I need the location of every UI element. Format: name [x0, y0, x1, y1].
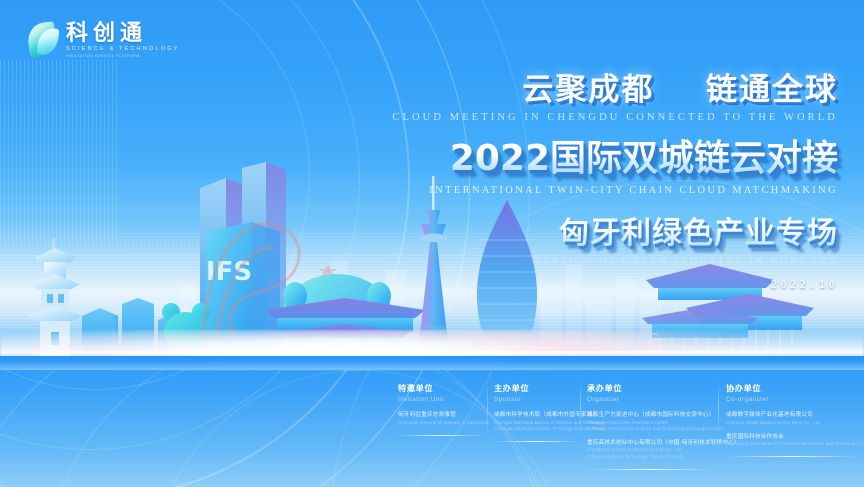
event-title-en: INTERNATIONAL TWIN-CITY CHAIN CLOUD MATC…	[318, 185, 838, 196]
credit-title-en: Co-organizer	[726, 396, 860, 404]
credit-block-organizer: 承办单位 Organizer 成都生产力促进中心（成都市国际科技交流中心） Ch…	[587, 384, 713, 470]
credits-bar: 特邀单位 Invitation Unit 匈牙利驻重庆总领事馆 Consulat…	[0, 370, 864, 487]
leaf-droplet-logo-icon	[26, 22, 60, 58]
credit-item-cn: 成都市科学技术局（成都市外国专家局）	[494, 411, 578, 419]
credit-title-cn: 协办单位	[726, 384, 860, 394]
credit-item: 成都生产力促进中心（成都市国际科技交流中心） Chengdu Productiv…	[587, 411, 713, 432]
logo-name-en: SCIENCE & TECHNOLOGY	[66, 47, 180, 53]
horizon-blue-bar	[0, 356, 864, 370]
horizon-glow-line	[0, 351, 864, 354]
brand-logo[interactable]: 科创通 SCIENCE & TECHNOLOGY INNOVATION SERV…	[26, 22, 180, 58]
credit-item: 重庆国际科技合作协会 Chongqing Association for Int…	[726, 433, 860, 448]
slogan-cn: 云聚成都 链通全球	[318, 64, 838, 109]
credit-item-en: Chengdu Digital Media Industry Base Co.,…	[726, 420, 860, 426]
event-poster: IFS	[0, 0, 864, 487]
credit-item: 重庆高技术创业中心有限公司（中国-匈牙利技术转移中心） Chongqing Hi…	[587, 439, 713, 460]
credit-block-sponsor: 主办单位 Sponsor 成都市科学技术局（成都市外国专家局） Chengdu …	[494, 384, 578, 442]
credit-item: 匈牙利驻重庆总领事馆 Consulate General of Hungary …	[398, 411, 484, 426]
credit-title-cn: 主办单位	[494, 384, 578, 394]
credit-item-en: Consulate General of Hungary in Chongqin…	[398, 420, 484, 426]
slogan-cn-part1: 云聚成都	[522, 72, 654, 108]
credit-item-cn: 匈牙利驻重庆总领事馆	[398, 411, 484, 419]
credit-divider	[487, 378, 488, 436]
event-date: 2022.10	[318, 278, 838, 291]
credit-rule	[398, 435, 484, 436]
credit-rule	[494, 441, 578, 442]
credit-title-en: Organizer	[587, 396, 713, 404]
credit-item-cn: 重庆高技术创业中心有限公司（中国-匈牙利技术转移中心）	[587, 439, 713, 447]
headline-block: 云聚成都 链通全球 CLOUD MEETING IN CHENGDU CONNE…	[318, 64, 838, 291]
slogan-en: CLOUD MEETING IN CHENGDU CONNECTED TO TH…	[318, 112, 838, 123]
credit-item: 成都数字媒体产业化基地有限公司 Chengdu Digital Media In…	[726, 411, 860, 426]
credit-item-en-2: (China-Hungarian Technology Transfer Cen…	[587, 454, 713, 460]
credit-title-en: Invitation Unit	[398, 396, 484, 404]
credit-rule	[726, 456, 860, 457]
credit-item-en-2: (Chengdu Municipal Bureau of Foreign Exp…	[494, 426, 578, 432]
credit-rule	[587, 469, 713, 470]
slogan-cn-part2: 链通全球	[706, 72, 838, 108]
credit-block-co-organizer: 协办单位 Co-organizer 成都数字媒体产业化基地有限公司 Chengd…	[726, 384, 860, 457]
credit-item-en: Chengdu Municipal Bureau of Science and …	[494, 420, 578, 426]
credit-item-cn: 成都数字媒体产业化基地有限公司	[726, 411, 860, 419]
credit-title-cn: 特邀单位	[398, 384, 484, 394]
credit-title-en: Sponsor	[494, 396, 578, 404]
credit-title-cn: 承办单位	[587, 384, 713, 394]
session-title-cn: 匈牙利绿色产业专场	[318, 208, 838, 252]
credit-item-cn: 成都生产力促进中心（成都市国际科技交流中心）	[587, 411, 713, 419]
session-title-en: SESSION OF GREEN INDUSTRY IN HUNGARY	[318, 256, 838, 267]
credit-block-invitation: 特邀单位 Invitation Unit 匈牙利驻重庆总领事馆 Consulat…	[398, 384, 484, 436]
logo-name-cn: 科创通	[66, 22, 180, 44]
credit-item: 成都市科学技术局（成都市外国专家局） Chengdu Municipal Bur…	[494, 411, 578, 432]
credit-item-cn: 重庆国际科技合作协会	[726, 433, 860, 441]
logo-name-en-sub: INNOVATION SERVICE PLATFORM	[66, 55, 180, 58]
credit-item-en-2: (Chengdu International Science and Techn…	[587, 426, 713, 432]
credit-item-en: Chongqing Association for International …	[726, 441, 860, 447]
event-title-cn: 2022国际双城链云对接	[318, 129, 838, 181]
